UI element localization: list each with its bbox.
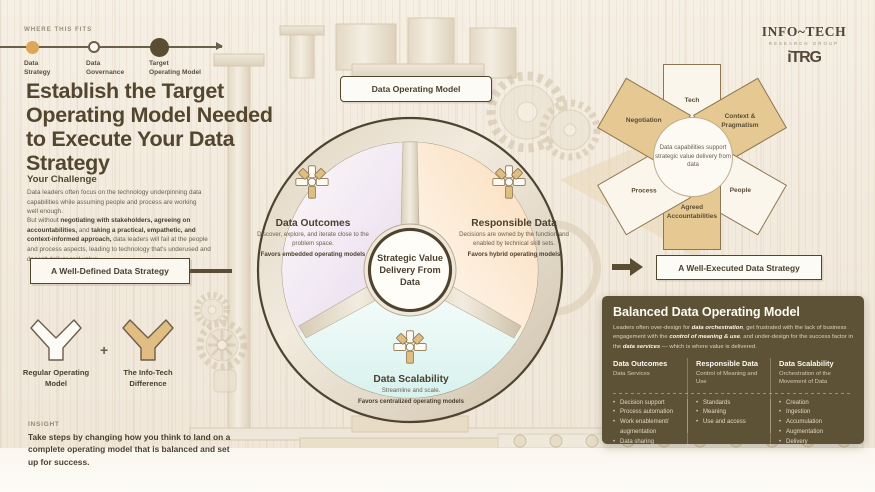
column-subtitle: Control of Meaning and Use	[696, 370, 762, 387]
list-item: Creation	[779, 399, 845, 409]
panel-divider	[613, 393, 853, 394]
list-item: Work enablement/ augmentation	[613, 418, 679, 437]
bullet-list: Creation Ingestion Accumulation Augmenta…	[779, 399, 845, 448]
panel-bullet-lists: Decision support Process automation Work…	[613, 399, 853, 448]
column-title: Data Outcomes	[613, 359, 679, 368]
hub-text: Strategic Value Delivery From Data	[371, 252, 449, 289]
lead-b2: control of meaning & use	[669, 334, 740, 340]
segment-data-scalability[interactable]: Data Scalability Streamline and scale. F…	[340, 374, 482, 407]
bullets-data-scalability: Creation Ingestion Accumulation Augmenta…	[770, 399, 853, 448]
list-item: Augmentation	[779, 428, 845, 438]
petal-label: People	[729, 187, 750, 196]
logo-itrg: iTRG	[751, 49, 857, 67]
petal-core-text: Data capabilities support strategic valu…	[654, 144, 732, 170]
segment-favors: Favors centralized operating models	[340, 398, 482, 407]
segment-data-outcomes[interactable]: Data Outcomes Discover, explore, and ite…	[253, 218, 373, 260]
wheel-hub-label: Strategic Value Delivery From Data	[369, 229, 451, 311]
bullets-data-outcomes: Decision support Process automation Work…	[613, 399, 687, 448]
column-title: Responsible Data	[696, 359, 762, 368]
data-operating-model-label[interactable]: Data Operating Model	[340, 76, 492, 102]
list-item: Data sharing	[613, 438, 679, 448]
panel-column-data-outcomes: Data Outcomes Data Services	[613, 359, 687, 387]
bullet-list: Standards Meaning Use and access	[696, 399, 762, 428]
pinwheel-icon-data-outcomes	[295, 165, 329, 199]
lead-post: — which is where value is delivered.	[660, 344, 757, 350]
logo-wordmark: INFO~TECH	[751, 24, 857, 40]
panel-title: Balanced Data Operating Model	[613, 305, 853, 319]
panel-column-headers: Data Outcomes Data Services Responsible …	[613, 359, 853, 387]
petal-label: Negotiation	[626, 117, 662, 126]
segment-title: Responsible Data	[450, 218, 578, 229]
column-subtitle: Orchestration of the Movement of Data	[779, 370, 845, 387]
pinwheel-icon-responsible-data	[492, 165, 526, 199]
panel-column-responsible-data: Responsible Data Control of Meaning and …	[687, 359, 770, 387]
logo-tagline: RESEARCH GROUP	[751, 41, 857, 46]
lead-b1: data orchestration	[692, 325, 743, 331]
well-executed-data-strategy-box[interactable]: A Well-Executed Data Strategy	[656, 255, 822, 280]
infographic-canvas: WHERE THIS FITS Data Strategy Data Gover…	[0, 0, 875, 492]
segment-favors: Favors hybrid operating models	[450, 251, 578, 260]
list-item: Decision support	[613, 399, 679, 409]
petal-label: Process	[631, 187, 656, 196]
list-item: Use and access	[696, 418, 762, 428]
segment-desc: Streamline and scale.	[340, 387, 482, 396]
petal-label: Context & Pragmatism	[715, 113, 765, 130]
segment-desc: Discover, explore, and iterate close to …	[253, 231, 373, 249]
list-item: Standards	[696, 399, 762, 409]
executed-arrow-icon	[630, 258, 643, 276]
list-item: Delivery	[779, 438, 845, 448]
pinwheel-icon-data-scalability	[393, 330, 427, 364]
segment-title: Data Scalability	[340, 374, 482, 385]
bullets-responsible-data: Standards Meaning Use and access	[687, 399, 770, 448]
list-item: Process automation	[613, 408, 679, 418]
segment-desc: Decisions are owned by the function and …	[450, 231, 578, 249]
bullet-list: Decision support Process automation Work…	[613, 399, 679, 448]
segment-favors: Favors embedded operating models	[253, 251, 373, 260]
panel-lead: Leaders often over-design for data orche…	[613, 324, 853, 352]
lead-b3: data services	[623, 344, 660, 350]
list-item: Meaning	[696, 408, 762, 418]
list-item: Ingestion	[779, 408, 845, 418]
segment-title: Data Outcomes	[253, 218, 373, 229]
panel-column-data-scalability: Data Scalability Orchestration of the Mo…	[770, 359, 853, 387]
info-tech-logo: INFO~TECH RESEARCH GROUP iTRG	[751, 24, 857, 67]
column-title: Data Scalability	[779, 359, 845, 368]
lead-pre: Leaders often over-design for	[613, 325, 692, 331]
column-subtitle: Data Services	[613, 370, 679, 386]
data-capabilities-petal-diagram: Tech Context & Pragmatism People Agreed …	[585, 62, 800, 252]
balanced-data-operating-model-panel: Balanced Data Operating Model Leaders of…	[602, 296, 864, 444]
petal-label: Tech	[685, 97, 700, 106]
petal-core-label: Data capabilities support strategic valu…	[653, 117, 733, 197]
segment-responsible-data[interactable]: Responsible Data Decisions are owned by …	[450, 218, 578, 260]
list-item: Accumulation	[779, 418, 845, 428]
